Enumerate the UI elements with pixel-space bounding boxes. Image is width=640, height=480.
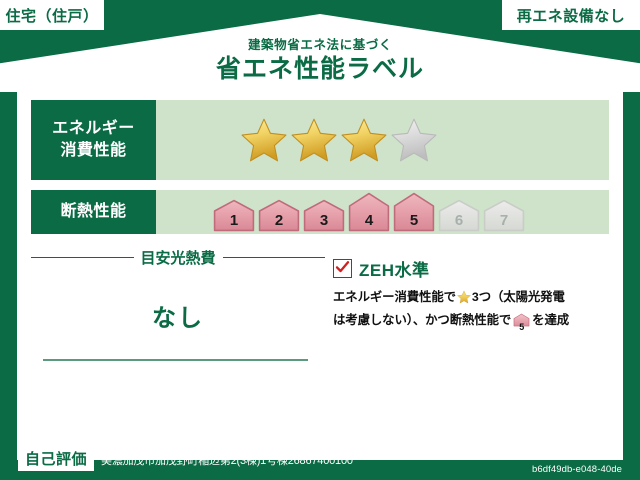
star-filled [240, 116, 288, 164]
insulation-level-active: 2 [258, 199, 300, 232]
footer-right: 評価日 2025年12月23日 b6df49db-e048-40de [469, 442, 622, 475]
insulation-level-inactive: 6 [438, 199, 480, 232]
badge-building-type: 住宅（住戸） [0, 0, 104, 30]
insulation-level-number: 6 [438, 212, 480, 229]
zeh-checkbox[interactable] [333, 259, 352, 278]
self-evaluation-badge: 自己評価 [18, 449, 94, 472]
utility-cost-block: 目安光熱費 なし [31, 234, 325, 333]
row-energy-performance: エネルギー 消費性能 [31, 100, 609, 180]
insulation-level-active: 3 [303, 199, 345, 232]
insulation-level-number: 4 [348, 212, 390, 229]
insulation-level-number: 1 [213, 212, 255, 229]
heading-rule-right [223, 257, 326, 258]
star-empty [390, 116, 438, 164]
zeh-title: ZEH水準 [359, 256, 430, 281]
evaluation-date-label: 評価日 [469, 446, 512, 462]
star-icon-empty [390, 116, 438, 164]
zeh-block: ZEH水準 エネルギー消費性能で3つ（太陽光発電 は考慮しない）、かつ断熱性能で… [325, 234, 609, 333]
star-icon-filled [340, 116, 388, 164]
row-energy-label-line1: エネルギー [52, 118, 135, 140]
utility-cost-value: なし [31, 298, 325, 333]
evaluation-date-value: 2025年12月23日 [516, 446, 622, 462]
utility-cost-heading-text: 目安光熱費 [141, 247, 216, 268]
heading-rule-left [31, 257, 134, 258]
row-energy-label: エネルギー 消費性能 [31, 100, 156, 180]
property-address: 美濃加茂市加茂野町稲辺第2(3棟)1号棟26867400100 [101, 452, 353, 468]
star-icon-inline [457, 290, 471, 310]
zeh-desc-part1: エネルギー消費性能で [333, 290, 456, 304]
evaluation-date: 評価日 2025年12月23日 [469, 442, 622, 463]
check-icon [335, 260, 350, 275]
star-filled [290, 116, 338, 164]
row-insulation-label: 断熱性能 [31, 190, 156, 234]
insulation-level-scale: 1 2 3 4 [213, 192, 525, 232]
star-filled [340, 116, 388, 164]
utility-cost-heading: 目安光熱費 [31, 247, 325, 268]
insulation-badge-inline: 5 [513, 313, 530, 333]
insulation-level-active: 4 [348, 192, 390, 232]
insulation-level-number: 3 [303, 212, 345, 229]
badge-renewable-equipment: 再エネ設備なし [502, 0, 640, 30]
insulation-level-inactive: 7 [483, 199, 525, 232]
insulation-level-number: 7 [483, 212, 525, 229]
insulation-level-number: 2 [258, 212, 300, 229]
star-icon-filled [240, 116, 288, 164]
row-energy-value [156, 100, 609, 180]
row-insulation-performance: 断熱性能 1 2 3 [31, 190, 609, 234]
insulation-level-active: 1 [213, 199, 255, 232]
evaluation-id: b6df49db-e048-40de [469, 464, 622, 475]
utility-cost-underline [43, 359, 308, 361]
zeh-desc-part2: は考慮しない）、かつ断熱性能で [333, 313, 511, 327]
energy-performance-label: 建築物省エネ法に基づく 省エネ性能ラベル 住宅（住戸） 再エネ設備なし エネルギ… [0, 0, 640, 480]
row-energy-label-line2: 消費性能 [60, 140, 126, 162]
lower-section: 目安光熱費 なし ZEH水準 エネルギー消費性能で3つ（太陽光発電 [31, 234, 609, 333]
star-icon-filled [290, 116, 338, 164]
insulation-level-active: 5 [393, 192, 435, 232]
zeh-desc-part3: を達成 [532, 313, 569, 327]
zeh-heading: ZEH水準 [333, 256, 609, 281]
row-insulation-value: 1 2 3 4 [156, 190, 609, 234]
zeh-description: エネルギー消費性能で3つ（太陽光発電 は考慮しない）、かつ断熱性能で5を達成 [333, 287, 609, 333]
zeh-desc-stars: 3つ（太陽光発電 [472, 290, 565, 304]
insulation-level-number: 5 [393, 212, 435, 229]
label-body-panel: エネルギー 消費性能 [17, 88, 623, 460]
star-rating [240, 116, 438, 164]
insulation-badge-number: 5 [513, 321, 530, 333]
